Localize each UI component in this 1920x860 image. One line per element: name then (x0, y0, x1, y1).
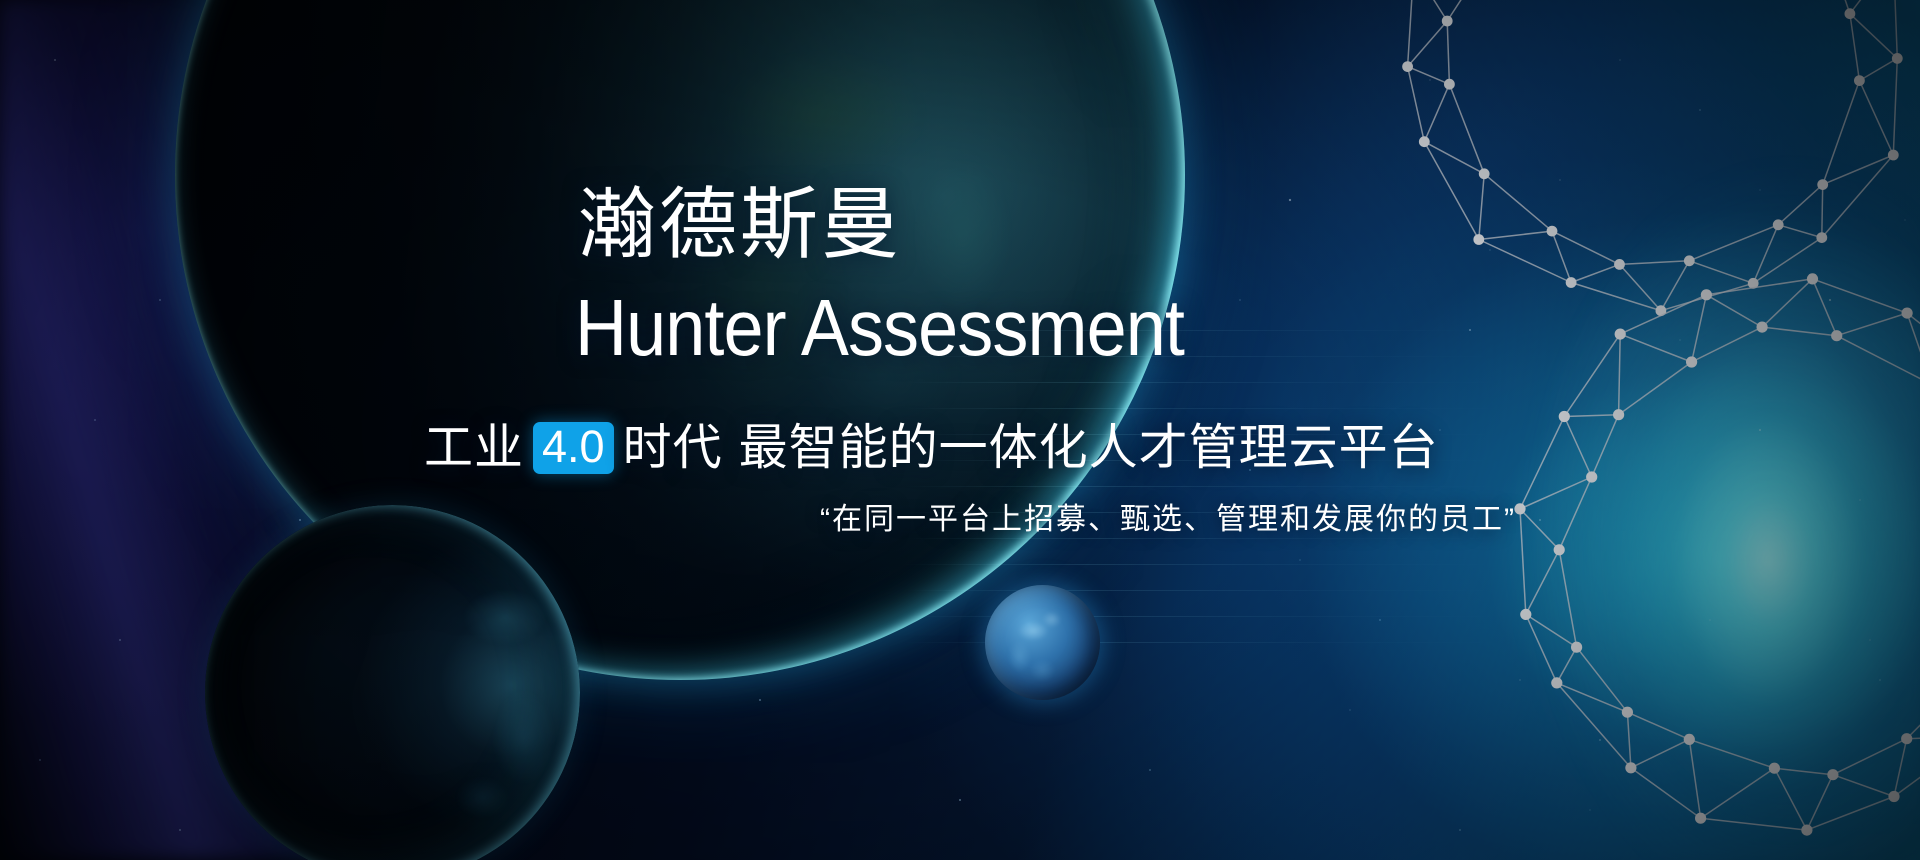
tagline-suffix: 最智能的一体化人才管理云平台 (739, 424, 1439, 473)
tagline-prefix: 工业 (424, 424, 524, 473)
industry-version-badge: 4.0 (533, 422, 614, 474)
hero-banner: 瀚德斯曼 Hunter Assessment 工业 4.0 时代 最智能的一体化… (0, 0, 1920, 860)
tagline: 工业 4.0 时代 最智能的一体化人才管理云平台 (424, 422, 1439, 474)
hero-copy: 瀚德斯曼 Hunter Assessment 工业 4.0 时代 最智能的一体化… (0, 0, 1920, 860)
tagline-middle: 时代 (623, 424, 723, 473)
hero-quote: “在同一平台上招募、甄选、管理和发展你的员工” (820, 505, 1516, 535)
brand-title-english: Hunter Assessment (575, 288, 1184, 368)
brand-title-chinese: 瀚德斯曼 (578, 185, 902, 263)
